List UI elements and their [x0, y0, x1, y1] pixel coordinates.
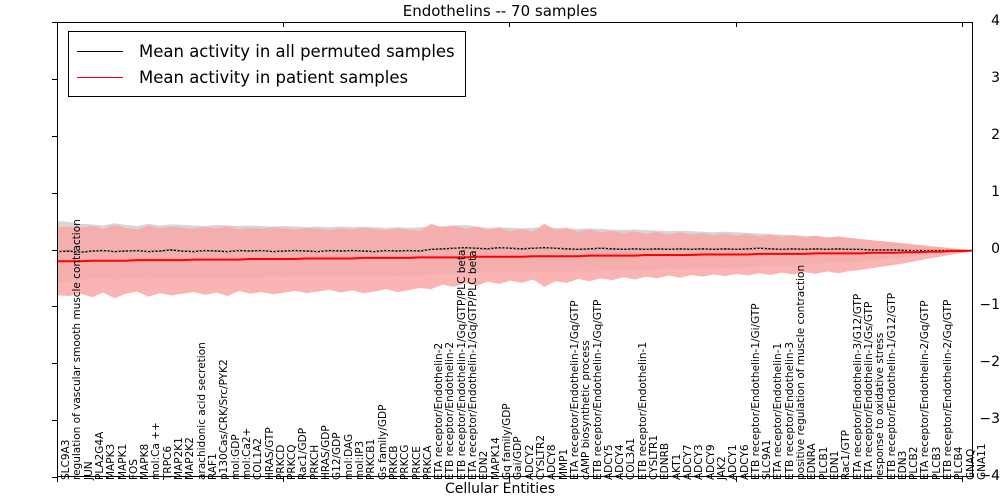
legend-item: Mean activity in all permuted samples: [77, 38, 455, 64]
legend-line-patient: [77, 77, 123, 78]
figure: Endothelins -- 70 samples Inferred Activ…: [0, 0, 1000, 500]
legend-label-patient: Mean activity in patient samples: [139, 68, 408, 87]
x-tick-label: ETA receptor/Endothelin-1/Gq/GTP/PLC bet…: [468, 250, 488, 480]
x-axis-label: Cellular Entities: [0, 481, 1000, 497]
legend-line-permuted: [77, 51, 123, 52]
legend-item: Mean activity in patient samples: [77, 64, 455, 90]
legend-label-permuted: Mean activity in all permuted samples: [139, 42, 455, 61]
legend: Mean activity in all permuted samples Me…: [68, 31, 466, 97]
x-tick-label: regulation of vascular smooth muscle con…: [72, 219, 92, 480]
x-tick-label: GNA11: [977, 443, 997, 480]
